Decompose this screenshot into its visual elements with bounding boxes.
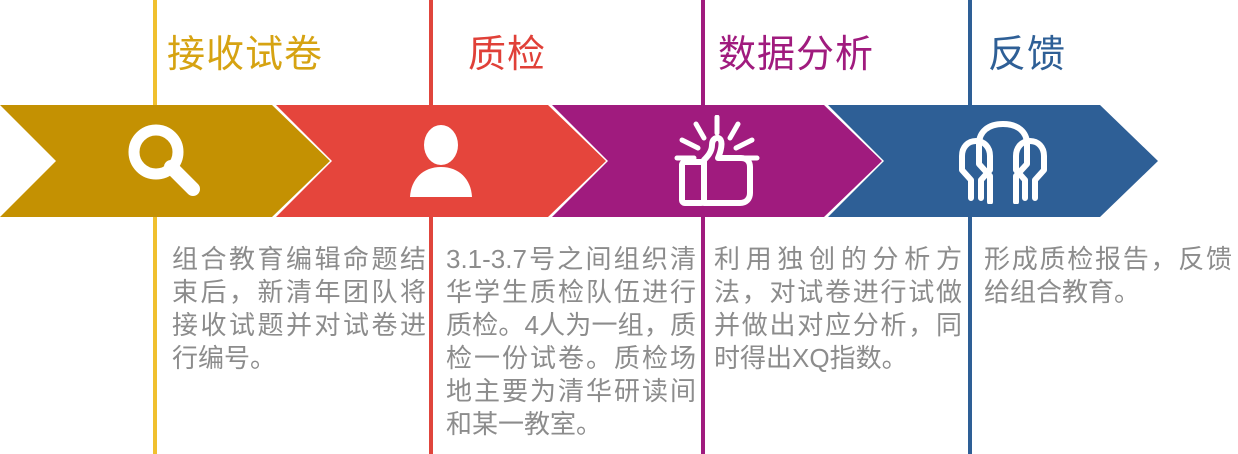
divider-stage4 <box>968 0 972 454</box>
process-diagram: 接收试卷 质检 数据分析 反馈 <box>0 0 1238 454</box>
stage-heading-receive-papers: 接收试卷 <box>167 33 323 77</box>
chevron-feedback[interactable] <box>828 105 1158 217</box>
stage-heading-feedback: 反馈 <box>988 33 1066 77</box>
stage-heading-data-analysis: 数据分析 <box>718 33 874 77</box>
stage-heading-quality-inspection: 质检 <box>468 33 546 77</box>
stage-body-feedback: 形成质检报告，反馈给组合教育。 <box>984 243 1232 309</box>
stage-body-receive-papers: 组合教育编辑命题结束后，新清年团队将接收试题并对试卷进行编号。 <box>172 243 426 375</box>
stage-body-quality-inspection: 3.1-3.7号之间组织清华学生质检队伍进行质检。4人为一组，质检一份试卷。质检… <box>446 243 696 441</box>
divider-stage1 <box>153 0 157 454</box>
chevron-banner <box>0 105 1238 217</box>
stage-body-data-analysis: 利用独创的分析方法，对试卷进行试做并做出对应分析，同时得出XQ指数。 <box>714 243 962 375</box>
divider-stage3 <box>701 0 705 454</box>
divider-stage2 <box>429 0 433 454</box>
